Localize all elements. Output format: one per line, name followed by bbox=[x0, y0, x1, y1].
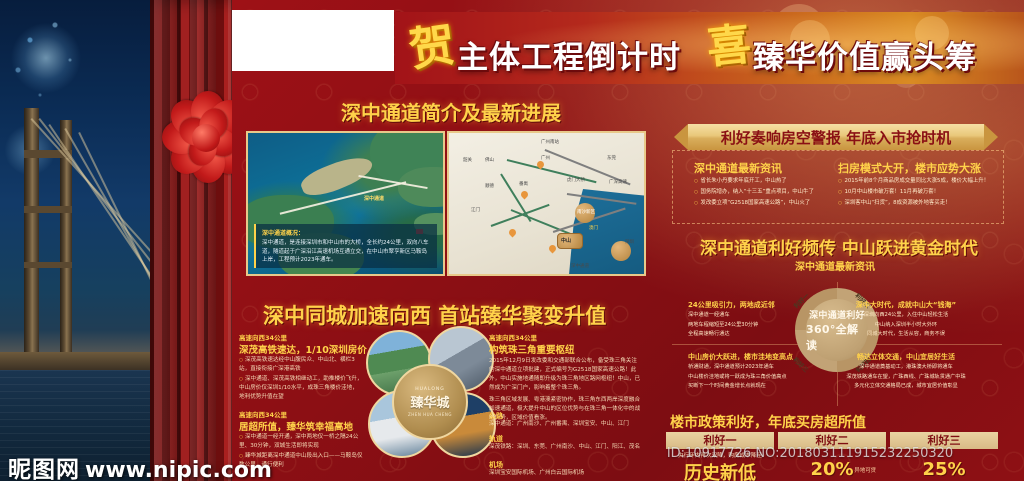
quadrant-line: 深中通道奠基动工，港珠澳大桥即将通车 bbox=[846, 363, 965, 373]
map-label: 东莞 bbox=[607, 155, 616, 161]
bridge-crossbeam bbox=[24, 206, 72, 213]
ring-line-2: 360°全解读 bbox=[806, 321, 868, 353]
image-id-watermark: ID:10917726 NO:201803111915232250320 bbox=[600, 446, 1020, 461]
quadrant-line: 深中通道一经通车 bbox=[688, 311, 758, 321]
quadrant-line: 买断下一个时间黄金增长点就现在 bbox=[688, 382, 787, 392]
mini-body: 2015年12月9日发改委和交通部联合公布，备受珠三角关注的深中通道立项批建，正… bbox=[489, 357, 641, 423]
quadrant-line: 中山纳入深圳半小时大外环 bbox=[864, 321, 948, 331]
satellite-caption-box: 深中通道概况： 深中通道，是连接深圳市和中山市的大桥，全长约24公里，双向八车道… bbox=[254, 224, 437, 268]
mini-head: 居超所值，臻华筑幸福高地 bbox=[239, 419, 353, 433]
mini-head: 构筑珠三角重要枢纽 bbox=[489, 342, 575, 356]
ribbon-tail-left bbox=[674, 124, 688, 150]
bullet-item: 发改委立项“G2518国家高速公路”，中山火了 bbox=[694, 198, 844, 209]
quadrant-line: 桥通财通，深中通道预计2023年通车 bbox=[688, 363, 787, 373]
card-big-value: 历史新低 bbox=[666, 459, 774, 481]
news-col-right-head: 扫房模式大开，楼市应势大涨 bbox=[838, 160, 981, 176]
quadrant-head-br: 畅达立体交通，中山宜居好生活 bbox=[857, 352, 955, 362]
section-title-policy: 楼市政策利好，年底买房超所值 bbox=[670, 412, 866, 432]
logo-main-text: 臻华城 bbox=[410, 392, 449, 411]
caption-title: 深中通道概况： bbox=[262, 228, 431, 237]
he-character: 贺 bbox=[399, 14, 465, 80]
body-line: 深中通道：广州南沙、广州番禺、深圳宝安、中山、江门 bbox=[489, 420, 641, 429]
section-title-tunnel-intro: 深中通道简介及最新进展 bbox=[341, 97, 561, 126]
headline-text-a: 主体工程倒计时 bbox=[457, 32, 681, 77]
satellite-map-image: 深中通道 深中通道概况： 深中通道，是连接深圳市和中山市的大桥，全长约24公里，… bbox=[246, 131, 445, 276]
quadrant-body-tr: 深圳向西24公里，入住中山轻松生活 中山纳入深圳半小时大外环 同城大时代，生活从… bbox=[864, 311, 948, 340]
caption-body: 深中通道，是连接深圳市和中山市的大桥，全长约24公里，双向八车道，隧道起于广深沿… bbox=[262, 239, 431, 264]
watermark-brand-url: www.nipic.com bbox=[85, 458, 272, 481]
mini-body: 深茂高铁速达经中山腹民众、中山北、横栏3站，直接衔接广深港高铁 深中通道、深茂高… bbox=[239, 356, 363, 403]
quadrant-head-tr: 深中大时代，成就中山大“钱海” bbox=[856, 300, 956, 310]
mini-tag: 高速向西34公里 bbox=[489, 332, 537, 342]
map-label: 虎门大桥 bbox=[567, 177, 585, 183]
map-label: 韶关 bbox=[463, 157, 472, 163]
quadrant-body-tl: 深中通道一经通车 两地车程缩短至24公里30分钟 全程高速畅行通达 bbox=[688, 311, 758, 340]
mini-body: 深圳宝安国际机场、广州白云国际机场 bbox=[489, 469, 641, 478]
curtain-fold bbox=[154, 0, 180, 481]
blank-logo-placeholder bbox=[232, 10, 394, 71]
curtain-fold bbox=[190, 0, 216, 481]
body-line: 深中通道一经开通，深中两地仅一桥之隔24公里、30分钟，双城生活即将实现 bbox=[239, 433, 363, 451]
firework-burst-icon bbox=[6, 18, 86, 98]
site-watermark: 昵图网 www.nipic.com bbox=[8, 450, 272, 481]
map-label: 南沙新区 bbox=[577, 209, 595, 215]
quadrant-body-br: 深中通道奠基动工，港珠澳大桥即将通车 深茂铁路通车在望，广珠西线、广珠城轨贯通广… bbox=[846, 363, 965, 392]
xi-character: 喜 bbox=[697, 13, 761, 81]
map-label: 江门 bbox=[471, 207, 480, 213]
quadrant-line: 深茂铁路通车在望，广珠西线、广珠城轨贯通广中珠 bbox=[846, 373, 965, 383]
map-pin-icon bbox=[508, 228, 518, 238]
ribbon-banner: 利好奏响房空警报 年底入市抢时机 bbox=[688, 124, 984, 150]
quadrant-head-tl: 24公里吸引力，两地成近邻 bbox=[688, 300, 775, 310]
quadrant-line: 多元化立体交通格局已成，城市宜居价值彰显 bbox=[846, 382, 965, 392]
section-title-city-upgrade: 深中同城加速向西 首站臻华聚变升值 bbox=[263, 300, 606, 330]
poster-canvas: 贺 主体工程倒计时 喜 臻华价值赢头筹 深中通道简介及最新进展 深中通道 深中通… bbox=[0, 0, 1024, 481]
map-label: 澳门 bbox=[589, 225, 598, 231]
section-title-golden-era: 深中通道利好频传 中山跃进黄金时代 bbox=[700, 234, 978, 259]
mini-tag: 高速向西34公里 bbox=[239, 332, 287, 342]
regional-road-map-image: 韶关 佛山 广州 广州南站 东莞 顺德 番禺 江门 虎门大桥 南沙新区 广深高速… bbox=[447, 131, 646, 276]
section-subtitle-news: 深中通道最新资讯 bbox=[795, 258, 875, 273]
body-line: 深圳宝安国际机场、广州白云国际机场 bbox=[489, 469, 641, 478]
logo-sub-text: ZHEN HUA CHENG bbox=[408, 412, 452, 417]
map-label: 顺德 bbox=[485, 183, 494, 189]
news-col-right-bullets: 2015年前8个月商品房成交量同比大涨5成，楼价大幅上升！ 10月中山楼市破万套… bbox=[838, 176, 1000, 208]
quadrant-head-bl: 中山房价大跃进，楼市洼地变高点 bbox=[688, 352, 793, 362]
project-logo-badge: HUALONG 臻华城 ZHEN HUA CHENG bbox=[392, 364, 468, 440]
body-line: 深茂高铁速达经中山腹民众、中山北、横栏3站，直接衔接广深港高铁 bbox=[239, 356, 363, 374]
bullet-item: 10月中山楼市破万套！11月再破万套！ bbox=[838, 187, 1000, 198]
body-line: 2015年12月9日发改委和交通部联合公布，备受珠三角关注的深中通道立项批建，正… bbox=[489, 357, 641, 393]
bullet-item: 省长朱小丹要求年底开工，中山热了 bbox=[694, 176, 844, 187]
map-label: 佛山 bbox=[485, 157, 494, 163]
map-label: 广州 bbox=[541, 155, 550, 161]
ribbon-tail-right bbox=[984, 124, 998, 150]
news-col-left-head: 深中通道最新资讯 bbox=[694, 160, 782, 176]
quadrant-line: 全程高速畅行通达 bbox=[688, 330, 758, 340]
map-label: 深中通道 bbox=[571, 263, 589, 269]
map-label-tunnel: 深中通道 bbox=[364, 195, 384, 202]
body-line: 深中通道、深茂高铁相继动工，助推楼价飞升，中山房价仅深圳1/10水平，成珠三角楼… bbox=[239, 375, 363, 402]
map-label: 广深高速 bbox=[609, 179, 627, 185]
map-pin-icon bbox=[520, 190, 530, 200]
mini-head: 深茂高铁速达，1/10深圳房价 bbox=[239, 342, 367, 356]
map-label: 深圳 bbox=[625, 239, 634, 245]
map-label: 中山 bbox=[561, 237, 571, 244]
ribbon-title: 利好奏响房空警报 年底入市抢时机 bbox=[721, 127, 951, 148]
quadrant-line: 深圳向西24公里，入住中山轻松生活 bbox=[864, 311, 948, 321]
bullet-item: 深圳客中山“扫货”，8成资源被外地客买走！ bbox=[838, 198, 1000, 209]
card-note: 异地可贷 bbox=[854, 466, 876, 474]
headline-banner: 贺 主体工程倒计时 喜 臻华价值赢头筹 bbox=[395, 12, 1024, 84]
bridge-crossbeam bbox=[24, 262, 72, 268]
map-pin-icon bbox=[548, 244, 558, 254]
quadrant-line: 同城大时代，生活从容，商务不误 bbox=[864, 330, 948, 340]
quadrant-line: 中山楼价洼地或将一跃成为珠三角价值高点 bbox=[688, 373, 787, 383]
bridge-cable bbox=[79, 132, 155, 285]
news-col-left-bullets: 省长朱小丹要求年底开工，中山热了 国务院增办，纳入“十三五”重点项目，中山牛了 … bbox=[694, 176, 844, 208]
map-label: 广州南站 bbox=[541, 139, 559, 145]
quadrant-line: 两地车程缩短至24公里30分钟 bbox=[688, 321, 758, 331]
mini-tag: 高速向西34公里 bbox=[239, 409, 287, 419]
bullet-item: 2015年前8个月商品房成交量同比大涨5成，楼价大幅上升！ bbox=[838, 176, 1000, 187]
mini-body: 深中通道：广州南沙、广州番禺、深圳宝安、中山、江门 bbox=[489, 420, 641, 429]
card-big-value: 25% bbox=[890, 459, 998, 480]
map-label: 番禺 bbox=[519, 181, 528, 187]
bullet-item: 国务院增办，纳入“十三五”重点项目，中山牛了 bbox=[694, 187, 844, 198]
headline-text-b: 臻华价值赢头筹 bbox=[753, 32, 977, 77]
watermark-brand-cn: 昵图网 bbox=[8, 450, 80, 481]
quadrant-body-bl: 桥通财通，深中通道预计2023年通车 中山楼价洼地或将一跃成为珠三角价值高点 买… bbox=[688, 363, 787, 392]
